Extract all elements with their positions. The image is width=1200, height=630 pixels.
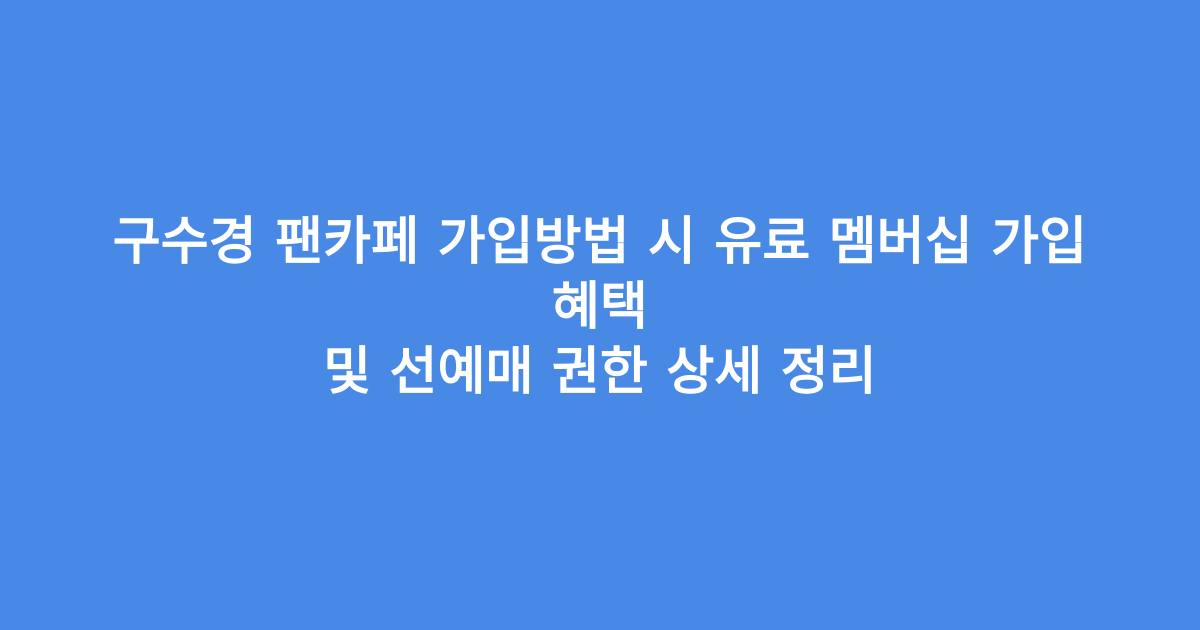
- title-line-2: 및 선예매 권한 상세 정리: [75, 340, 1125, 405]
- page-title: 구수경 팬카페 가입방법 시 유료 멤버십 가입 혜택및 선예매 권한 상세 정…: [75, 210, 1125, 405]
- title-block: 구수경 팬카페 가입방법 시 유료 멤버십 가입 혜택및 선예매 권한 상세 정…: [55, 210, 1145, 405]
- og-image-card: 구수경 팬카페 가입방법 시 유료 멤버십 가입 혜택및 선예매 권한 상세 정…: [0, 0, 1200, 630]
- title-line-1: 구수경 팬카페 가입방법 시 유료 멤버십 가입 혜택: [75, 210, 1125, 340]
